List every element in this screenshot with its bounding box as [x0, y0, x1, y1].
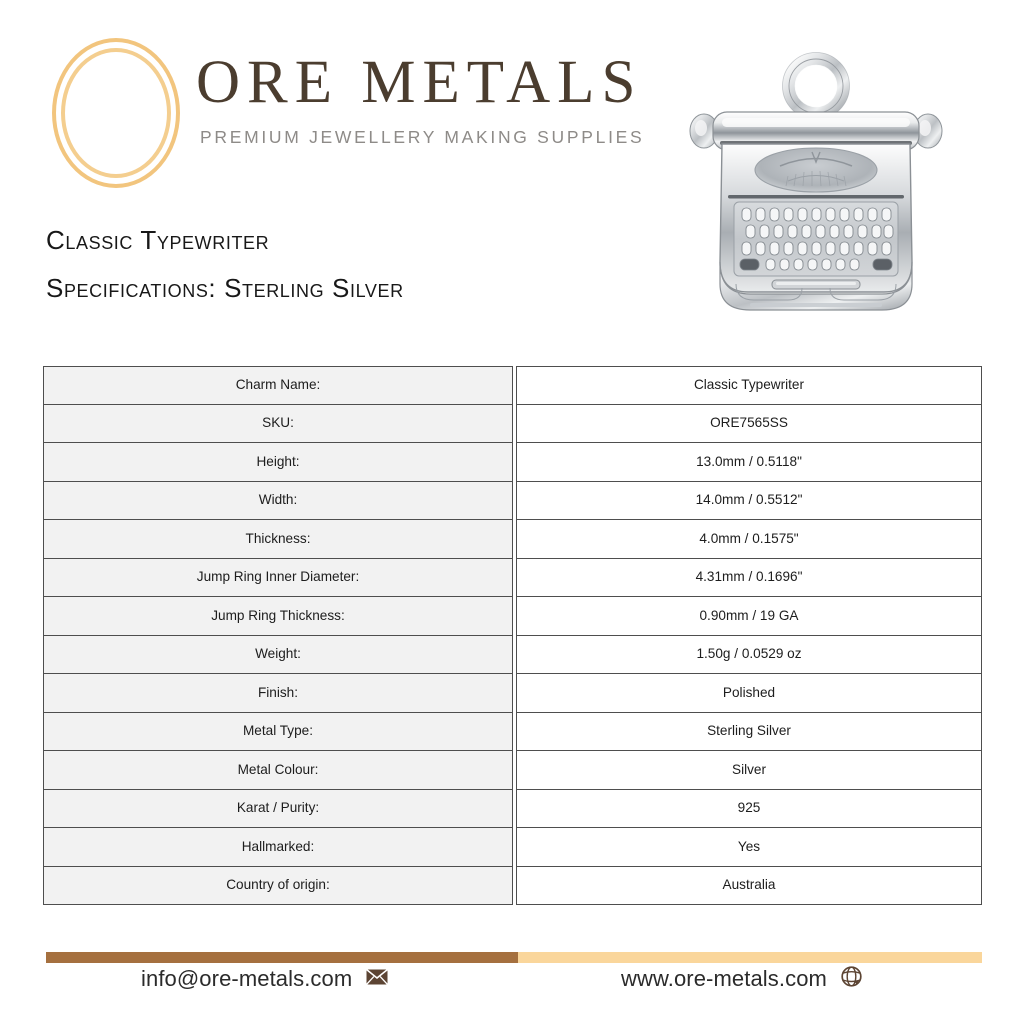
spec-label: Hallmarked:	[43, 828, 513, 867]
brand-tagline: PREMIUM JEWELLERY MAKING SUPPLIES	[196, 124, 626, 150]
table-row: Metal Type: Sterling Silver	[43, 713, 982, 752]
page-subtitle: Specifications: Sterling Silver	[46, 272, 666, 305]
table-row: Jump Ring Thickness: 0.90mm / 19 GA	[43, 597, 982, 636]
typewriter-charm-image	[676, 48, 956, 323]
spec-value: 1.50g / 0.0529 oz	[516, 636, 982, 675]
table-row: SKU: ORE7565SS	[43, 405, 982, 444]
footer-contacts: info@ore-metals.com www.ore-metals.com	[46, 960, 982, 1008]
spec-value: Sterling Silver	[516, 713, 982, 752]
spec-label: Thickness:	[43, 520, 513, 559]
spec-value: Polished	[516, 674, 982, 713]
table-row: Metal Colour: Silver	[43, 751, 982, 790]
typewriter-charm-icon	[676, 48, 956, 323]
spec-value: 13.0mm / 0.5118"	[516, 443, 982, 482]
footer-website-text: www.ore-metals.com	[621, 964, 827, 994]
footer-email[interactable]: info@ore-metals.com	[141, 964, 388, 994]
spec-label: SKU:	[43, 405, 513, 444]
table-row: Finish: Polished	[43, 674, 982, 713]
brand-logo: ORE METALS PREMIUM JEWELLERY MAKING SUPP…	[48, 34, 628, 194]
spec-value: 4.31mm / 0.1696"	[516, 559, 982, 598]
spec-value: Classic Typewriter	[516, 366, 982, 405]
table-row: Width: 14.0mm / 0.5512"	[43, 482, 982, 521]
spec-label: Finish:	[43, 674, 513, 713]
table-row: Karat / Purity: 925	[43, 790, 982, 829]
spec-label: Country of origin:	[43, 867, 513, 906]
spec-value: Yes	[516, 828, 982, 867]
spec-label: Jump Ring Thickness:	[43, 597, 513, 636]
spec-label: Width:	[43, 482, 513, 521]
spec-sheet-page: ORE METALS PREMIUM JEWELLERY MAKING SUPP…	[0, 0, 1024, 1024]
spec-value: Silver	[516, 751, 982, 790]
footer-website[interactable]: www.ore-metals.com	[621, 964, 862, 994]
brand-name: ORE METALS	[196, 48, 626, 118]
spec-label: Metal Type:	[43, 713, 513, 752]
spec-value: 925	[516, 790, 982, 829]
envelope-icon	[366, 969, 388, 990]
table-row: Weight: 1.50g / 0.0529 oz	[43, 636, 982, 675]
spec-value: 0.90mm / 19 GA	[516, 597, 982, 636]
spec-value: 14.0mm / 0.5512"	[516, 482, 982, 521]
brand-text: ORE METALS PREMIUM JEWELLERY MAKING SUPP…	[196, 48, 626, 150]
spec-label: Weight:	[43, 636, 513, 675]
spec-value: ORE7565SS	[516, 405, 982, 444]
spec-label: Jump Ring Inner Diameter:	[43, 559, 513, 598]
table-row: Jump Ring Inner Diameter: 4.31mm / 0.169…	[43, 559, 982, 598]
table-row: Hallmarked: Yes	[43, 828, 982, 867]
footer-email-text: info@ore-metals.com	[141, 964, 352, 994]
table-row: Charm Name: Classic Typewriter	[43, 366, 982, 405]
table-row: Height: 13.0mm / 0.5118"	[43, 443, 982, 482]
spec-label: Karat / Purity:	[43, 790, 513, 829]
double-ring-circle-logo-icon	[52, 38, 180, 188]
page-title: Classic Typewriter	[46, 224, 666, 257]
specifications-table: Charm Name: Classic Typewriter SKU: ORE7…	[43, 366, 982, 905]
spec-value: Australia	[516, 867, 982, 906]
page-title-block: Classic Typewriter Specifications: Sterl…	[46, 224, 666, 305]
globe-icon	[841, 966, 862, 992]
spec-label: Height:	[43, 443, 513, 482]
spec-value: 4.0mm / 0.1575"	[516, 520, 982, 559]
table-row: Country of origin: Australia	[43, 867, 982, 906]
table-row: Thickness: 4.0mm / 0.1575"	[43, 520, 982, 559]
spec-label: Metal Colour:	[43, 751, 513, 790]
logo-ring-inner	[61, 48, 171, 178]
spec-label: Charm Name:	[43, 366, 513, 405]
